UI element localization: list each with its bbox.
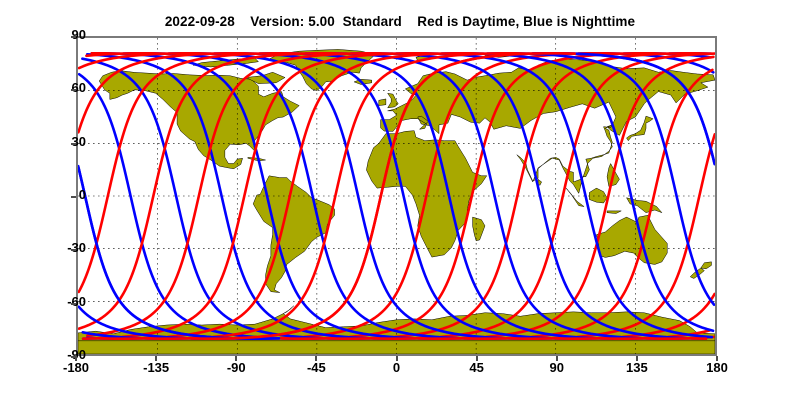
y-tick-mark [71,36,76,38]
x-tick-label: -180 [36,360,116,375]
x-tick-label: 90 [517,360,597,375]
y-tick-mark [71,143,76,145]
y-tick-mark [71,89,76,91]
plot-clip-area [78,38,715,354]
x-tick-label: -45 [276,360,356,375]
y-tick-label: 0 [26,187,86,202]
figure-title: 2022-09-28 Version: 5.00 Standard Red is… [0,14,800,29]
x-tick-mark [235,356,237,361]
nighttime-track [396,53,712,337]
x-tick-label: -90 [196,360,276,375]
daytime-track [419,57,713,339]
x-tick-mark [315,356,317,361]
y-tick-label: 90 [26,27,86,42]
y-tick-label: -30 [26,240,86,255]
x-tick-mark [155,356,157,361]
x-tick-mark [396,356,398,361]
y-tick-mark [71,249,76,251]
x-tick-mark [636,356,638,361]
x-tick-mark [716,356,718,361]
x-tick-label: 45 [437,360,517,375]
y-tick-mark [71,196,76,198]
y-tick-label: 60 [26,80,86,95]
ground-track-figure: 2022-09-28 Version: 5.00 Standard Red is… [0,0,800,400]
x-tick-label: 0 [357,360,437,375]
daytime-track [87,53,392,336]
x-tick-mark [556,356,558,361]
x-tick-label: 180 [677,360,757,375]
y-tick-mark [71,303,76,305]
daytime-track [79,53,347,328]
ground-track-layer [78,38,715,354]
plot-frame [76,36,717,356]
daytime-track [83,53,438,338]
y-tick-label: 30 [26,134,86,149]
x-tick-label: 135 [597,360,677,375]
x-tick-label: -135 [116,360,196,375]
x-tick-mark [75,356,77,361]
x-tick-mark [476,356,478,361]
y-tick-label: -60 [26,294,86,309]
